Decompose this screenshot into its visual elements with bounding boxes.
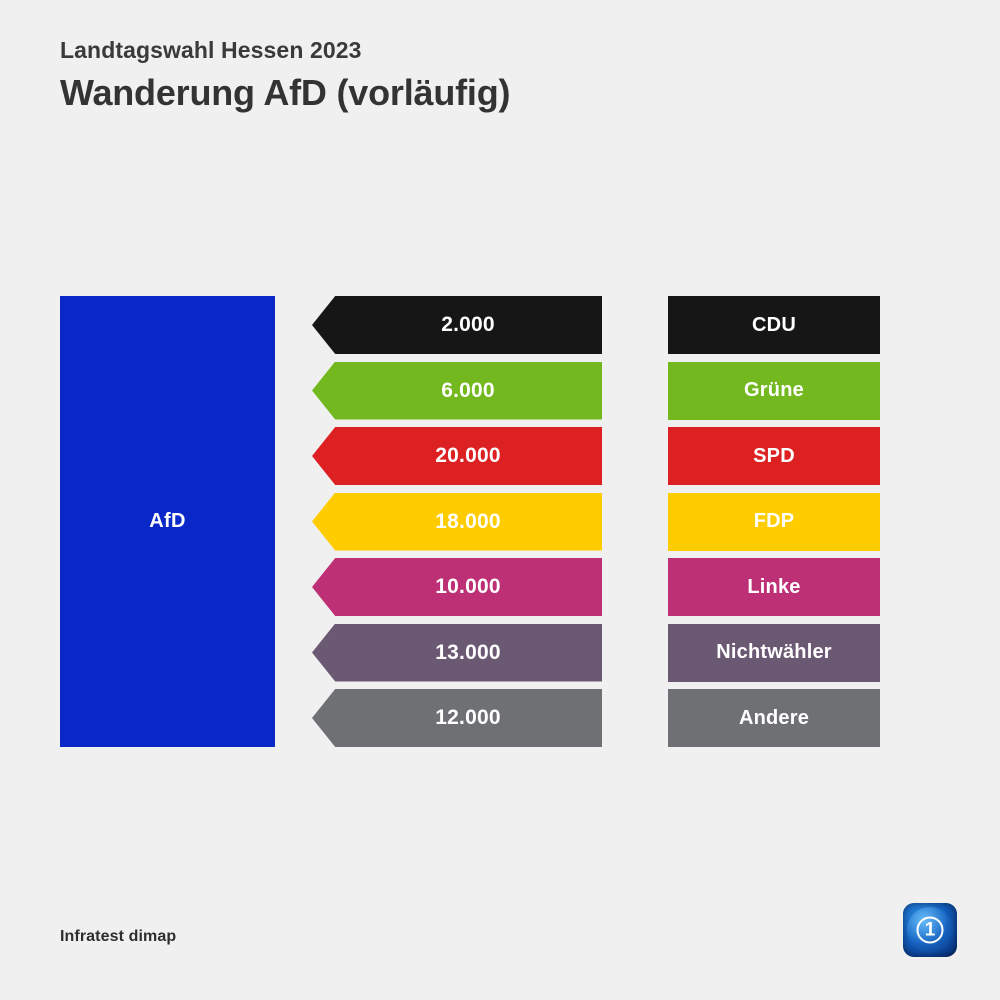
- party-plate-linke[interactable]: Linke: [668, 558, 880, 616]
- party-name: Nichtwähler: [716, 641, 832, 664]
- party-plate-spd[interactable]: SPD: [668, 427, 880, 485]
- ard-das-erste-logo: 1: [903, 903, 957, 957]
- party-name: CDU: [752, 314, 796, 337]
- migration-value: 6.000: [419, 379, 495, 403]
- migration-row: 10.000Linke: [0, 558, 1000, 616]
- party-name: Andere: [739, 707, 809, 730]
- migration-row: 6.000Grüne: [0, 362, 1000, 420]
- party-name: Linke: [747, 576, 800, 599]
- migration-value: 10.000: [413, 575, 500, 599]
- migration-flow-arrow-linke[interactable]: 10.000: [312, 558, 602, 616]
- party-plate-grüne[interactable]: Grüne: [668, 362, 880, 420]
- migration-flow-arrow-nichtwähler[interactable]: 13.000: [312, 624, 602, 682]
- migration-value: 18.000: [413, 510, 500, 534]
- migration-flow-arrow-fdp[interactable]: 18.000: [312, 493, 602, 551]
- voter-migration-chart: AfD 2.000CDU6.000Grüne20.000SPD18.000FDP…: [0, 296, 1000, 748]
- party-name: SPD: [753, 445, 795, 468]
- migration-value: 13.000: [413, 641, 500, 665]
- migration-row: 12.000Andere: [0, 689, 1000, 747]
- source-credit: Infratest dimap: [60, 928, 176, 946]
- migration-flow-arrow-spd[interactable]: 20.000: [312, 427, 602, 485]
- logo-digit-one: 1: [925, 921, 936, 940]
- chart-title: Wanderung AfD (vorläufig): [60, 72, 920, 113]
- migration-row: 20.000SPD: [0, 427, 1000, 485]
- chart-kicker: Landtagswahl Hessen 2023: [60, 38, 920, 63]
- party-plate-nichtwähler[interactable]: Nichtwähler: [668, 624, 880, 682]
- party-plate-fdp[interactable]: FDP: [668, 493, 880, 551]
- migration-row: 2.000CDU: [0, 296, 1000, 354]
- party-plate-andere[interactable]: Andere: [668, 689, 880, 747]
- migration-row: 18.000FDP: [0, 493, 1000, 551]
- migration-value: 12.000: [413, 706, 500, 730]
- party-name: FDP: [754, 510, 795, 533]
- migration-flow-arrow-andere[interactable]: 12.000: [312, 689, 602, 747]
- migration-flow-arrow-cdu[interactable]: 2.000: [312, 296, 602, 354]
- migration-flow-arrow-grüne[interactable]: 6.000: [312, 362, 602, 420]
- chart-header: Landtagswahl Hessen 2023 Wanderung AfD (…: [60, 38, 920, 114]
- party-plate-cdu[interactable]: CDU: [668, 296, 880, 354]
- party-name: Grüne: [744, 379, 804, 402]
- migration-value: 2.000: [419, 313, 495, 337]
- migration-row: 13.000Nichtwähler: [0, 624, 1000, 682]
- migration-value: 20.000: [413, 444, 500, 468]
